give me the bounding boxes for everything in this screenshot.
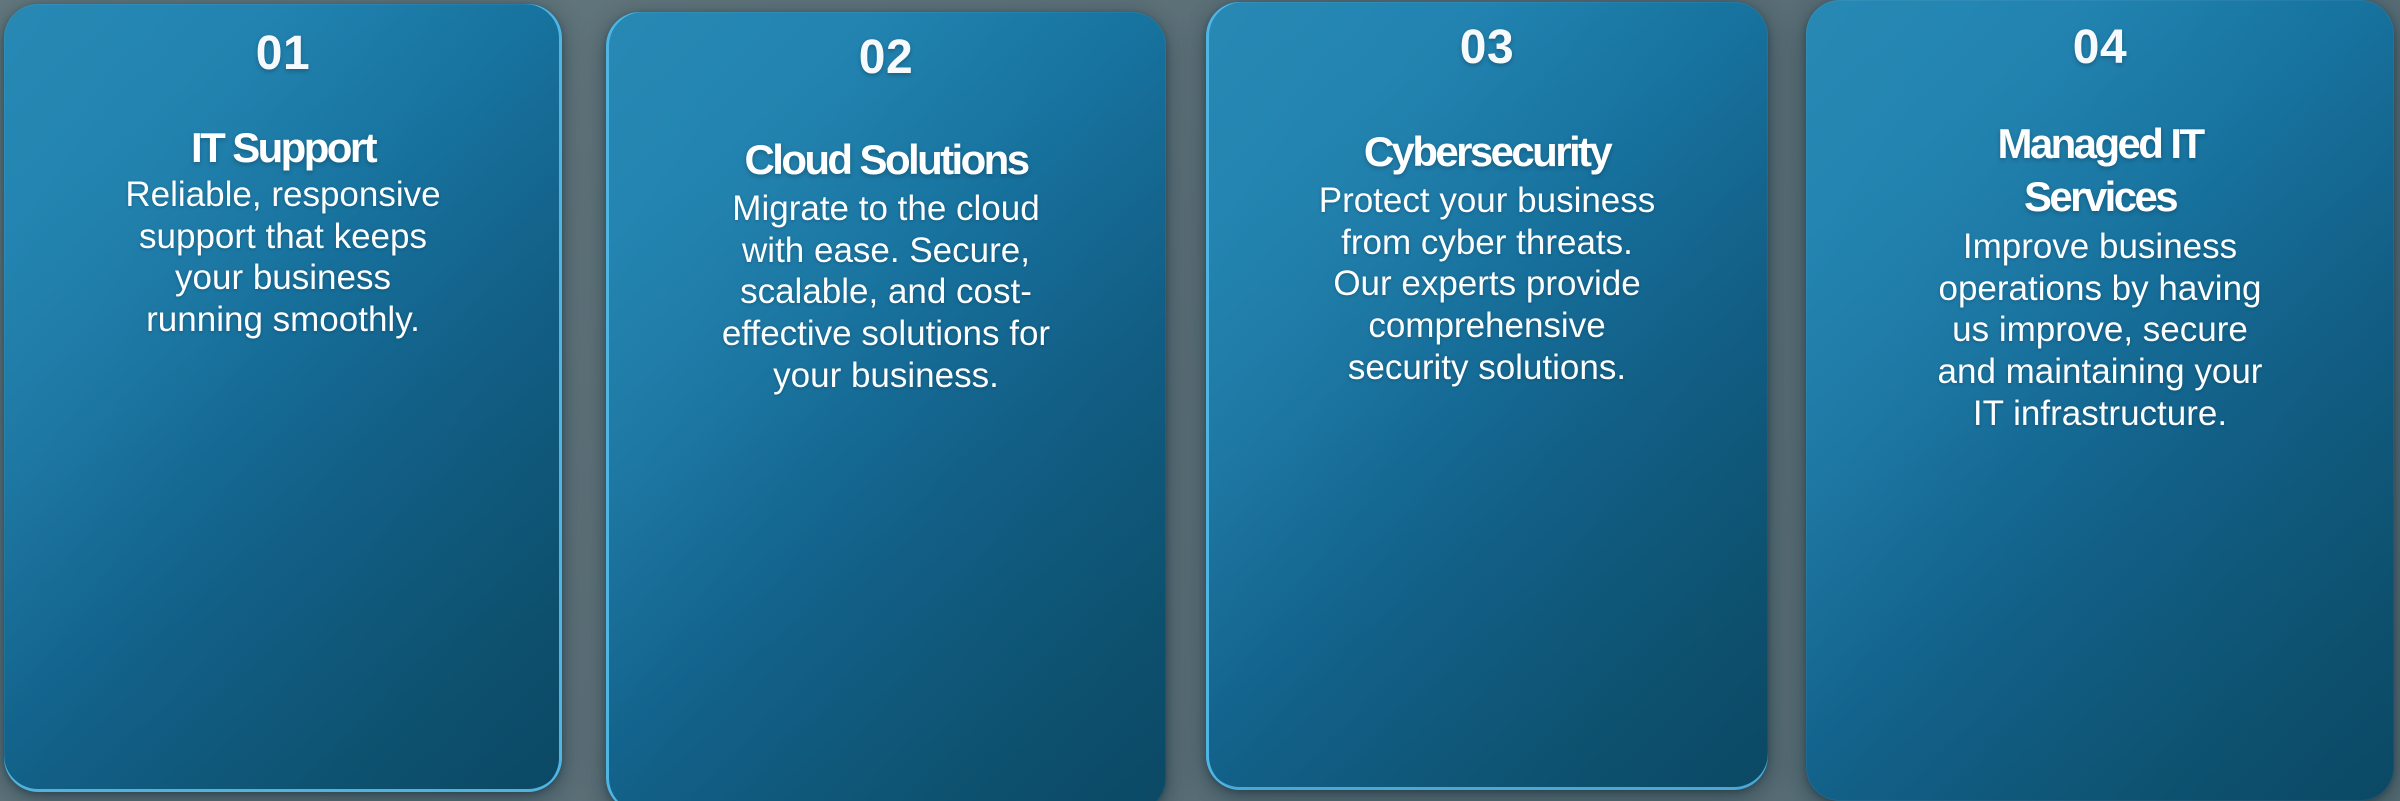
card-content: 02 Cloud Solutions Migrate to the cloud …	[632, 12, 1140, 801]
card-content: 01 IT Support Reliable, responsive suppo…	[30, 4, 536, 792]
card-number: 02	[632, 34, 1140, 82]
card-description: Migrate to the cloud with ease. Secure, …	[632, 188, 1140, 396]
card-description: Reliable, responsive support that keeps …	[30, 174, 536, 341]
card-title: Cloud Solutions	[632, 134, 1140, 187]
service-card-01[interactable]: 01 IT Support Reliable, responsive suppo…	[4, 4, 562, 792]
card-title: IT Support	[30, 122, 536, 175]
card-title: Cybersecurity	[1232, 126, 1742, 179]
card-number: 03	[1232, 24, 1742, 72]
card-title: Managed IT Services	[1832, 118, 2368, 224]
card-content: 03 Cybersecurity Protect your business f…	[1232, 2, 1742, 790]
card-number: 04	[1832, 24, 2368, 72]
service-card-02[interactable]: 02 Cloud Solutions Migrate to the cloud …	[606, 12, 1166, 801]
card-number: 01	[30, 30, 536, 78]
card-description: Protect your business from cyber threats…	[1232, 180, 1742, 388]
service-card-03[interactable]: 03 Cybersecurity Protect your business f…	[1206, 2, 1768, 790]
services-card-grid: 01 IT Support Reliable, responsive suppo…	[0, 0, 2400, 801]
card-content: 04 Managed IT Services Improve business …	[1832, 0, 2368, 801]
card-description: Improve business operations by having us…	[1832, 226, 2368, 434]
service-card-04[interactable]: 04 Managed IT Services Improve business …	[1806, 0, 2394, 801]
